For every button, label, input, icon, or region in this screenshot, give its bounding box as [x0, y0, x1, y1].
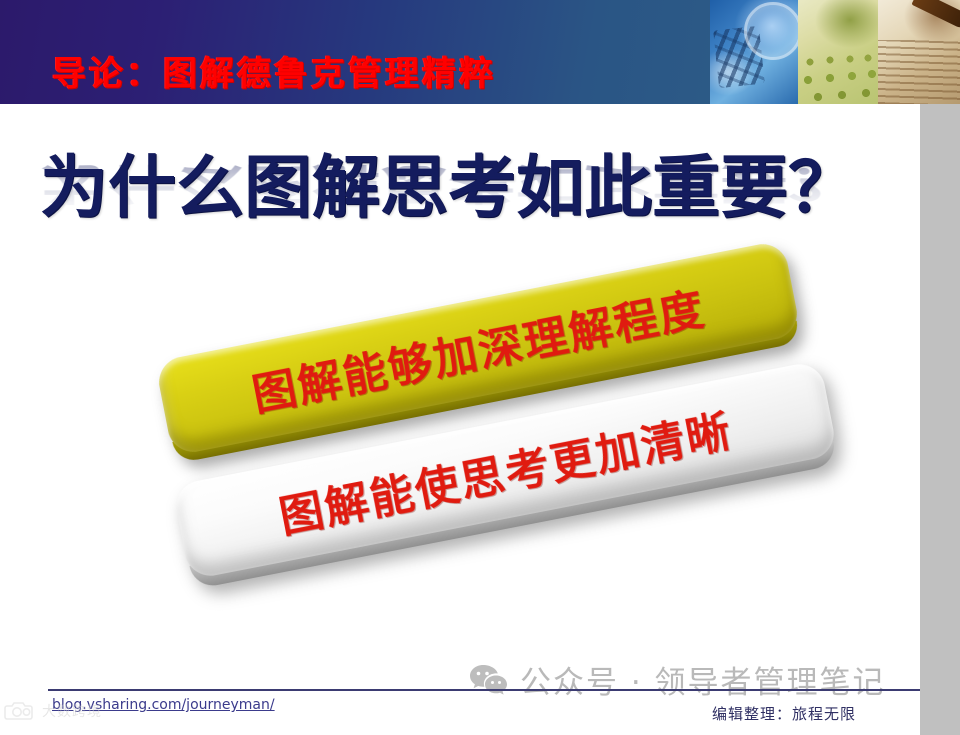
- footer-divider: [48, 689, 920, 691]
- pen-document-photo: [878, 0, 960, 104]
- slide-canvas: 导论：图解德鲁克管理精粹 为什么图解思考如此重要？ 为什么图解思考如此重要？ 图…: [0, 0, 960, 735]
- camera-logo-icon: [4, 700, 38, 722]
- footer-credit: 编辑整理：旅程无限: [712, 703, 856, 724]
- page-title-reflection: 为什么图解思考如此重要？: [40, 157, 856, 218]
- coins-calculator-photo: [798, 0, 878, 104]
- header-banner: 导论：图解德鲁克管理精粹: [0, 0, 960, 104]
- right-gray-strip: [920, 104, 960, 735]
- wechat-watermark-text: 公众号 · 领导者管理笔记: [520, 657, 886, 702]
- header-title: 导论：图解德鲁克管理精粹: [52, 46, 496, 95]
- footer-blog-link[interactable]: blog.vsharing.com/journeyman/: [52, 697, 275, 713]
- wechat-watermark: 公众号 · 领导者管理笔记: [468, 657, 886, 702]
- main-title-block: 为什么图解思考如此重要？ 为什么图解思考如此重要？: [40, 132, 920, 282]
- wechat-icon: [468, 663, 508, 697]
- plaque-bars-group: 图解能够加深理解程度 图解能使思考更加清晰: [0, 270, 920, 620]
- clock-keyboard-photo: [710, 0, 798, 104]
